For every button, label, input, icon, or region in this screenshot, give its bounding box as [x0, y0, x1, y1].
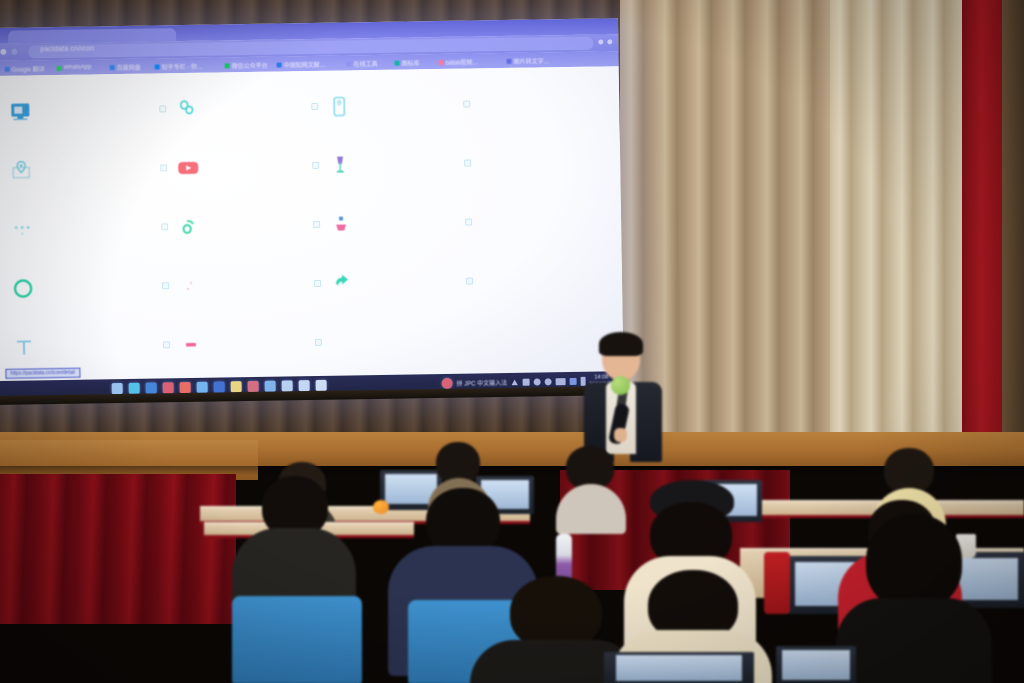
icon-cell[interactable] [5, 197, 158, 258]
bookmark-item[interactable]: 中国知网文献… [277, 59, 326, 70]
photos-icon[interactable] [197, 382, 208, 393]
bookmark-item[interactable]: 知乎专栏 - 你… [155, 61, 203, 72]
youtube-icon[interactable] [175, 154, 201, 180]
icon-cell[interactable] [4, 138, 157, 199]
forward-icon[interactable] [11, 49, 17, 55]
laptop-screen [616, 655, 742, 681]
laptop [776, 646, 856, 683]
pink-bar-icon[interactable] [178, 331, 204, 357]
blank-icon [478, 90, 504, 116]
location-envelope-icon[interactable] [8, 157, 34, 183]
bookmark-item[interactable]: 微信公众平台 [225, 60, 268, 71]
person-body [556, 484, 626, 534]
word-icon[interactable] [214, 381, 225, 392]
favicon-icon [507, 58, 512, 63]
app-icon[interactable] [282, 380, 293, 391]
bookmark-label: WhatsApp [64, 64, 92, 70]
icon-cell[interactable] [310, 252, 463, 313]
icon-checkbox[interactable] [466, 278, 473, 285]
bookmark-item[interactable]: 图片转文字… [507, 55, 550, 66]
icon-cell[interactable] [461, 190, 614, 251]
microphone-head-icon [611, 376, 630, 395]
lipstick-icon[interactable] [328, 211, 354, 237]
projection-screen: pacldata.cn/icon Google 翻译 WhatsApp 百度网盘… [0, 18, 624, 400]
wine-glass-icon[interactable] [327, 152, 353, 178]
favicon-icon [347, 61, 352, 66]
smartphone-icon[interactable] [326, 93, 352, 119]
icon-cell[interactable] [308, 134, 461, 195]
red-curtain-lower-left [0, 474, 236, 624]
icon-cell[interactable] [3, 79, 156, 140]
audience-person [556, 446, 626, 530]
icon-checkbox[interactable] [160, 164, 167, 171]
laptop-screen [782, 650, 849, 680]
presenter-hair [599, 332, 643, 356]
projected-browser-window: pacldata.cn/icon Google 翻译 WhatsApp 百度网盘… [0, 18, 624, 400]
bookmark-item[interactable]: 图标库 [395, 57, 420, 67]
icon-grid [0, 66, 623, 381]
favicon-icon [395, 60, 400, 65]
icon-cell[interactable] [6, 256, 159, 317]
back-icon[interactable] [0, 49, 6, 55]
curtain-valance [620, 0, 965, 42]
bookmark-label: 在线工具 [354, 58, 378, 67]
icon-checkbox[interactable] [315, 339, 322, 346]
icon-cell[interactable] [311, 311, 464, 372]
favicon-icon [225, 63, 230, 68]
bookmark-label: 图片转文字… [514, 56, 550, 66]
address-bar-value: pacldata.cn/icon [40, 45, 94, 53]
network-icon[interactable] [533, 378, 540, 385]
balloon-green-icon[interactable] [176, 213, 202, 239]
bookmark-item[interactable]: 在线工具 [347, 58, 378, 68]
presenter-hand [614, 428, 627, 442]
favicon-icon [155, 64, 160, 69]
blank-icon [480, 208, 506, 234]
beige-curtain-lit-section [830, 0, 970, 448]
bookmark-item[interactable]: 百度网盘 [110, 62, 141, 72]
icon-checkbox[interactable] [161, 223, 168, 230]
share-arrow-icon[interactable] [329, 270, 355, 296]
volume-icon[interactable] [544, 378, 551, 385]
bookmark-label: 图标库 [402, 58, 420, 67]
bookmark-label: 中国知网文献… [284, 59, 326, 69]
chair [232, 596, 362, 683]
icon-cell[interactable] [459, 72, 612, 133]
blank-icon [481, 267, 507, 293]
text-tool-icon[interactable] [11, 334, 37, 360]
bookmark-item[interactable]: bilibili视频… [439, 56, 479, 67]
bookmark-label: 知乎专栏 - 你… [162, 61, 203, 71]
favicon-icon [57, 65, 62, 70]
balloon-icon[interactable] [174, 95, 200, 121]
dot-small-icon[interactable] [177, 272, 203, 298]
chevron-up-icon[interactable] [511, 379, 518, 386]
icon-checkbox[interactable] [313, 221, 320, 228]
folder-icon[interactable] [265, 381, 276, 392]
bookmark-item[interactable]: WhatsApp [57, 62, 92, 73]
icon-cell[interactable] [157, 195, 310, 256]
chrome-icon[interactable] [180, 382, 191, 393]
icon-cell[interactable] [159, 313, 312, 374]
tray-app-icon[interactable] [441, 378, 452, 389]
icon-checkbox[interactable] [314, 280, 321, 287]
icon-cell[interactable] [460, 131, 613, 192]
wall-right-edge [1002, 0, 1024, 450]
pdf-icon[interactable] [248, 381, 259, 392]
favicon-icon [277, 62, 282, 67]
icon-checkbox[interactable] [464, 160, 471, 167]
media-player-icon[interactable] [163, 382, 174, 393]
icon-checkbox[interactable] [463, 101, 470, 108]
monitor-screen-icon[interactable] [7, 98, 33, 124]
icon-cell[interactable] [158, 254, 311, 315]
blank-icon [330, 329, 356, 355]
document-icon[interactable] [231, 381, 242, 392]
battery-icon[interactable] [555, 378, 565, 385]
favicon-icon [439, 59, 444, 64]
icon-cell[interactable] [156, 136, 309, 197]
bookmark-label: 微信公众平台 [232, 60, 268, 70]
icon-library-page [0, 66, 623, 381]
person-body [836, 598, 992, 683]
icon-cell[interactable] [155, 77, 308, 138]
bookmark-label: 百度网盘 [117, 62, 141, 71]
presenter [576, 332, 672, 464]
blank-icon [479, 149, 505, 175]
extension-icon[interactable] [598, 39, 603, 44]
icon-checkbox[interactable] [312, 162, 319, 169]
icon-cell[interactable] [462, 249, 615, 310]
icon-checkbox[interactable] [159, 105, 166, 112]
audience-person [836, 514, 992, 683]
icon-cell[interactable] [309, 193, 462, 254]
favicon-icon [110, 65, 115, 70]
icon-checkbox[interactable] [162, 282, 169, 289]
blank-icon [467, 327, 493, 353]
mail-icon[interactable] [146, 382, 157, 393]
red-curtain-right [962, 0, 1004, 448]
dots-menu-icon[interactable] [9, 216, 35, 242]
app-icon[interactable] [316, 380, 327, 391]
file-explorer-icon[interactable] [112, 383, 123, 394]
menu-icon[interactable] [607, 39, 612, 44]
bookmark-label: Google 翻译 [12, 64, 45, 74]
bookmark-item[interactable]: Google 翻译 [5, 63, 45, 74]
edge-browser-icon[interactable] [129, 383, 140, 394]
person-head [510, 576, 602, 650]
input-method-label[interactable]: 拼 JPC 中文输入法 [456, 378, 507, 388]
icon-cell[interactable] [307, 75, 460, 136]
orange-fruit [373, 500, 389, 514]
link-status-hint: https://pacldata.cn/icon/detail [5, 368, 80, 379]
onedrive-icon[interactable] [522, 379, 529, 386]
lecture-hall-scene: pacldata.cn/icon Google 翻译 WhatsApp 百度网盘… [0, 0, 1024, 683]
laptop [604, 652, 754, 683]
person-head [866, 514, 962, 610]
bookmark-label: bilibili视频… [446, 57, 479, 67]
droplet-icon[interactable] [10, 275, 36, 301]
icon-checkbox[interactable] [465, 219, 472, 226]
icon-checkbox[interactable] [311, 103, 318, 110]
app-icon[interactable] [299, 380, 310, 391]
favicon-icon [5, 66, 10, 71]
icon-checkbox[interactable] [163, 341, 170, 348]
